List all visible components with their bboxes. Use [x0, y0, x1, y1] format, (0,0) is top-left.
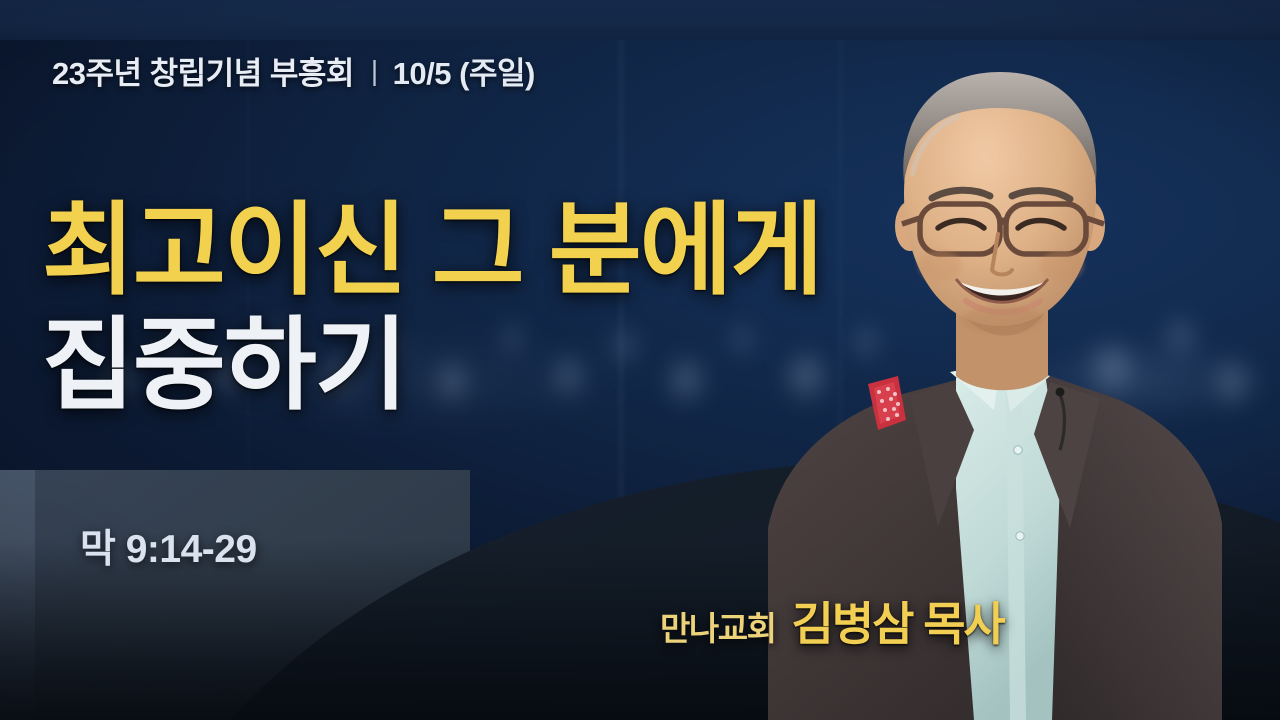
- speaker-name: 김병삼 목사: [791, 588, 1003, 654]
- scripture-reference: 막 9:14-29: [80, 518, 257, 574]
- sermon-title-card: 23주년 창립기념 부흥회 | 10/5 (주일) 최고이신 그 분에게 집중하…: [0, 0, 1280, 720]
- header-divider: |: [371, 55, 378, 87]
- sermon-title-line-2: 집중하기: [42, 315, 821, 418]
- speaker-credit: 만나교회 김병삼 목사: [660, 588, 1004, 654]
- event-title: 23주년 창립기념 부흥회: [52, 48, 354, 93]
- sermon-title: 최고이신 그 분에게 집중하기: [42, 200, 821, 418]
- event-date: 10/5 (주일): [393, 48, 535, 93]
- speaker-church: 만나교회: [660, 602, 775, 650]
- header-event-line: 23주년 창립기념 부흥회 | 10/5 (주일): [52, 48, 535, 93]
- sermon-title-line-1: 최고이신 그 분에게: [42, 200, 821, 303]
